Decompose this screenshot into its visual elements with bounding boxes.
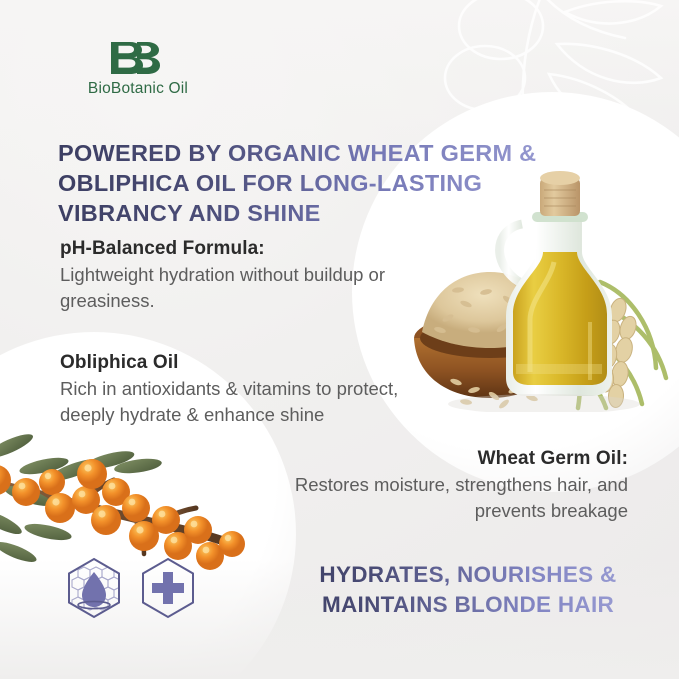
hydration-droplet-hexagon-badge [62,556,126,620]
feature-body: Restores moisture, strengthens hair, and… [228,472,628,523]
feature-title: pH-Balanced Formula: [60,238,420,260]
brand-name: BioBotanic Oil [48,80,228,98]
benefit-badges [62,556,200,620]
feature-body: Lightweight hydration without buildup or… [60,262,420,313]
bb-monogram-icon [107,38,169,78]
brand-logo: BioBotanic Oil [48,38,228,98]
bottom-tagline: HYDRATES, NOURISHES & MAINTAINS BLONDE H… [272,560,664,620]
feature-title: Obliphica Oil [60,352,455,374]
feature-ph-balanced: pH-Balanced Formula: Lightweight hydrati… [60,238,420,313]
infographic-canvas: BioBotanic Oil POWERED BY ORGANIC WHEAT … [0,0,679,679]
plus-icon [152,572,184,604]
feature-wheat-germ-oil: Wheat Germ Oil: Restores moisture, stren… [228,448,628,523]
care-plus-hexagon-badge [136,556,200,620]
feature-title: Wheat Germ Oil: [228,448,628,470]
